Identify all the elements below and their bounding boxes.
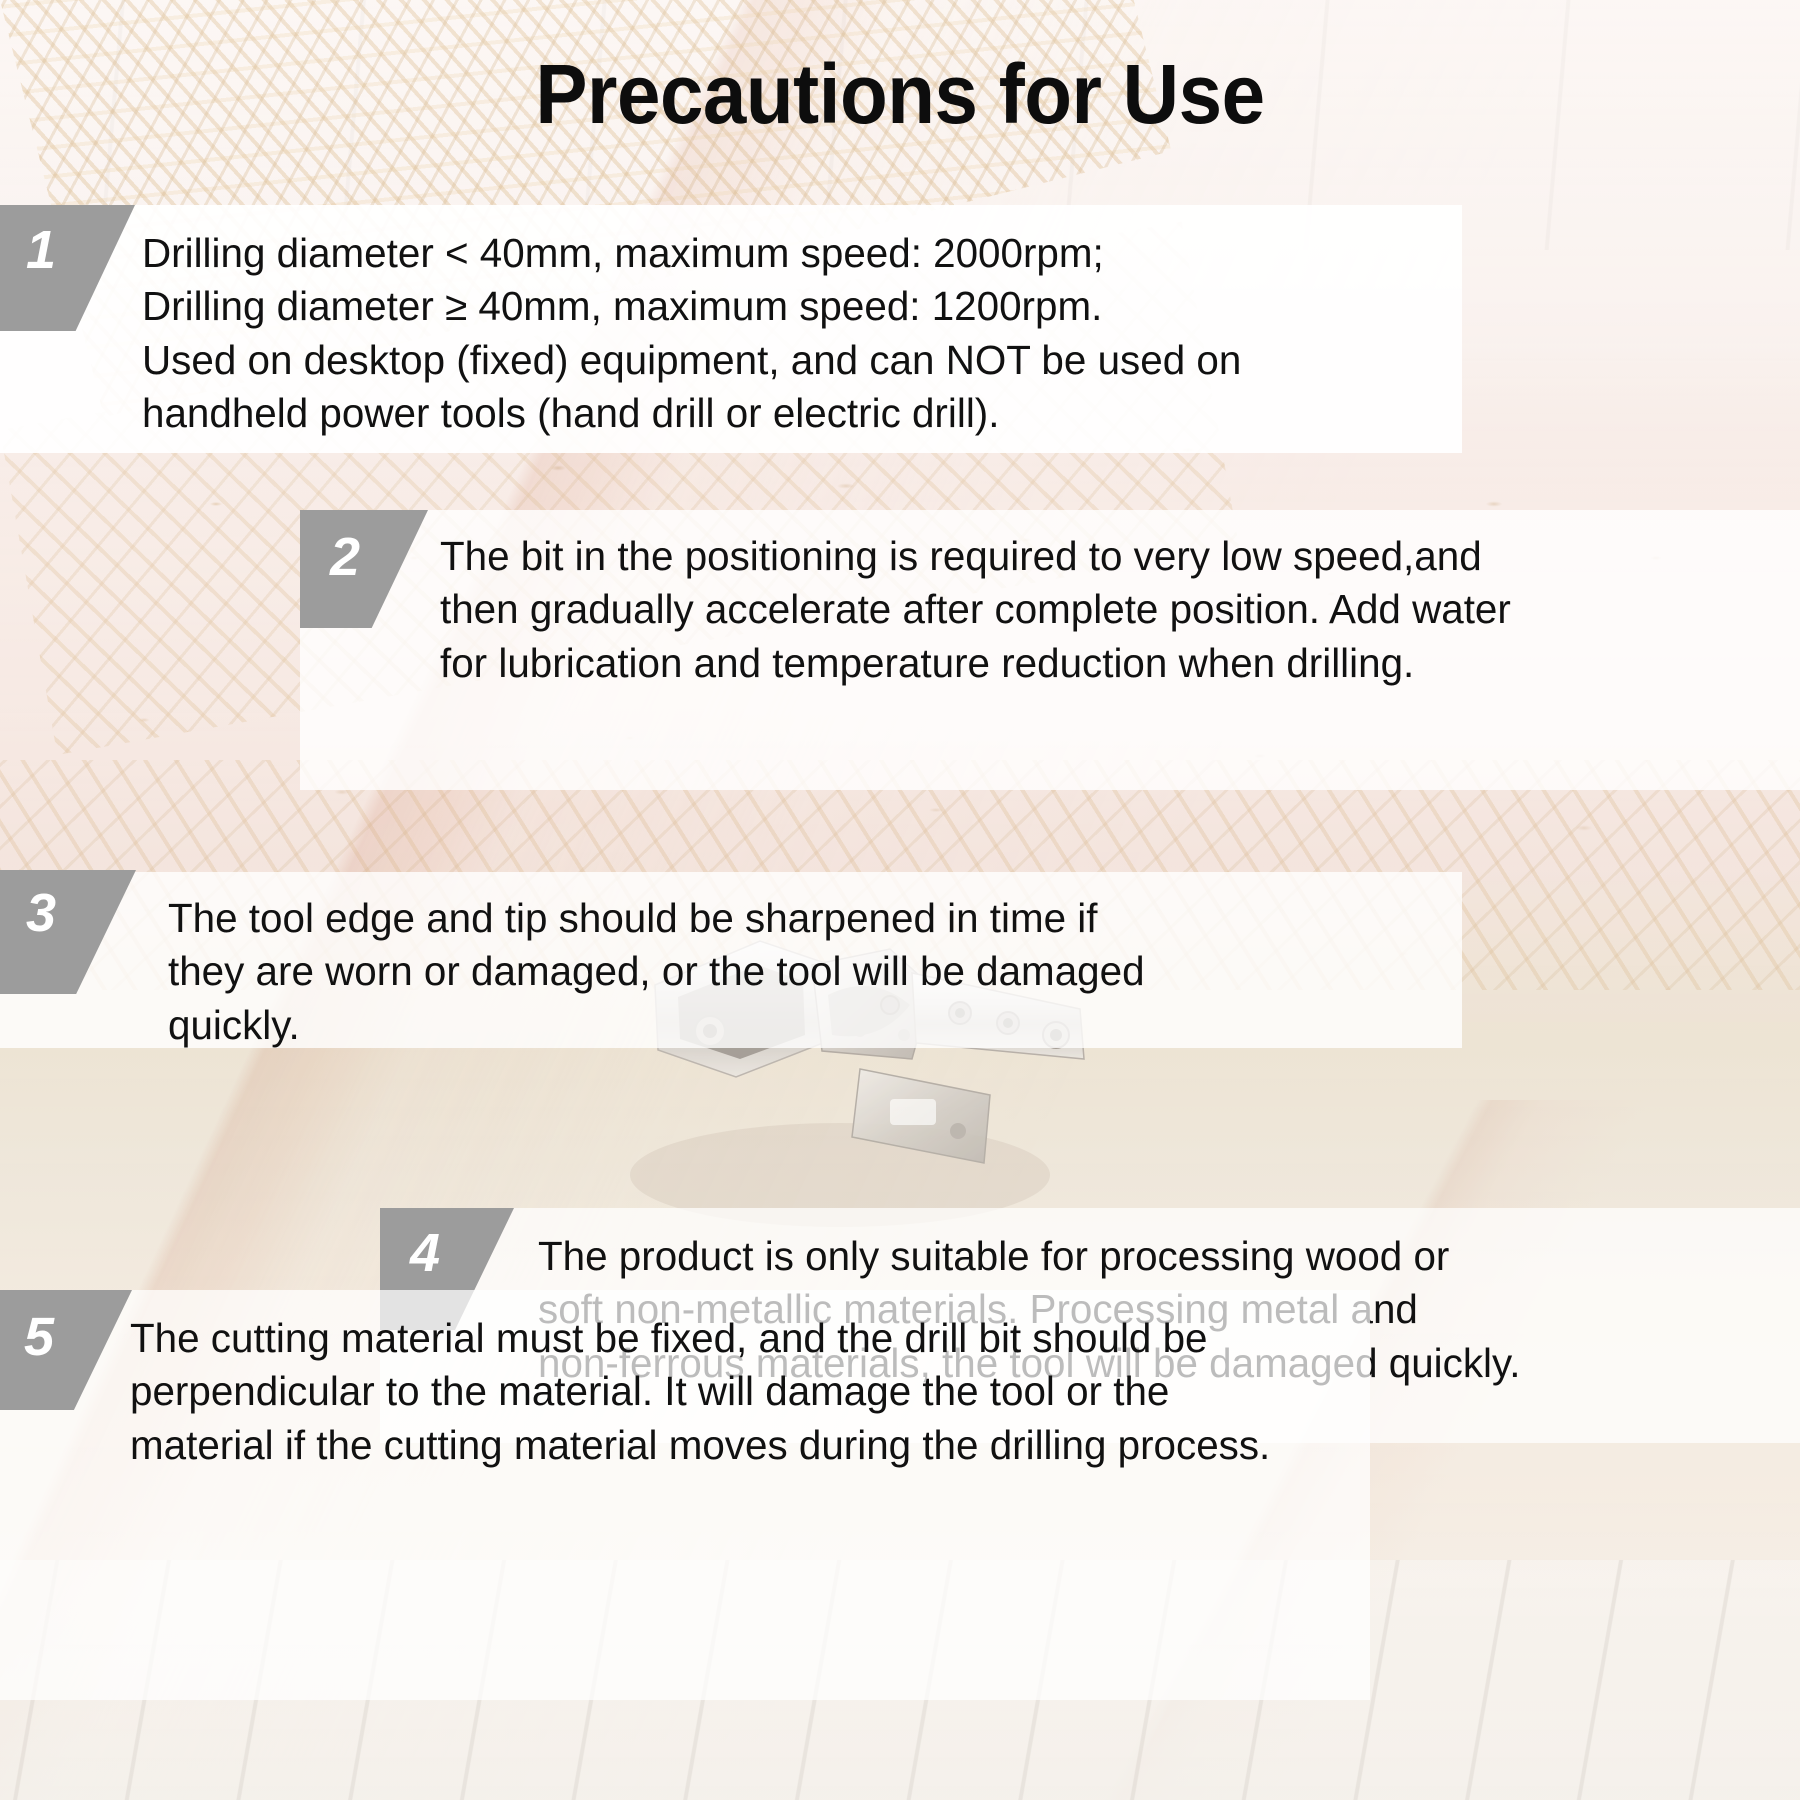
precaution-text: The cutting material must be fixed, and …	[130, 1312, 1342, 1472]
precaution-number: 5	[24, 1310, 54, 1364]
precaution-number: 4	[410, 1226, 440, 1280]
page-title: Precautions for Use	[63, 46, 1737, 143]
precaution-text: The tool edge and tip should be sharpene…	[168, 892, 1429, 1052]
precaution-number: 1	[26, 223, 56, 277]
precaution-item-5: 5 The cutting material must be fixed, an…	[0, 1290, 1370, 1700]
precaution-number: 3	[26, 886, 56, 940]
precaution-text: Drilling diameter < 40mm, maximum speed:…	[142, 227, 1432, 440]
precaution-item-2: 2 The bit in the positioning is required…	[300, 510, 1800, 790]
precaution-text: The bit in the positioning is required t…	[440, 530, 1770, 690]
precaution-item-1: 1 Drilling diameter < 40mm, maximum spee…	[0, 205, 1462, 453]
precaution-item-3: 3 The tool edge and tip should be sharpe…	[0, 770, 1462, 958]
infographic-page: Precautions for Use 1 Drilling diameter …	[0, 0, 1800, 1800]
precaution-number: 2	[330, 530, 360, 584]
precaution-item-4: 4 The product is only suitable for proce…	[380, 1045, 1800, 1280]
